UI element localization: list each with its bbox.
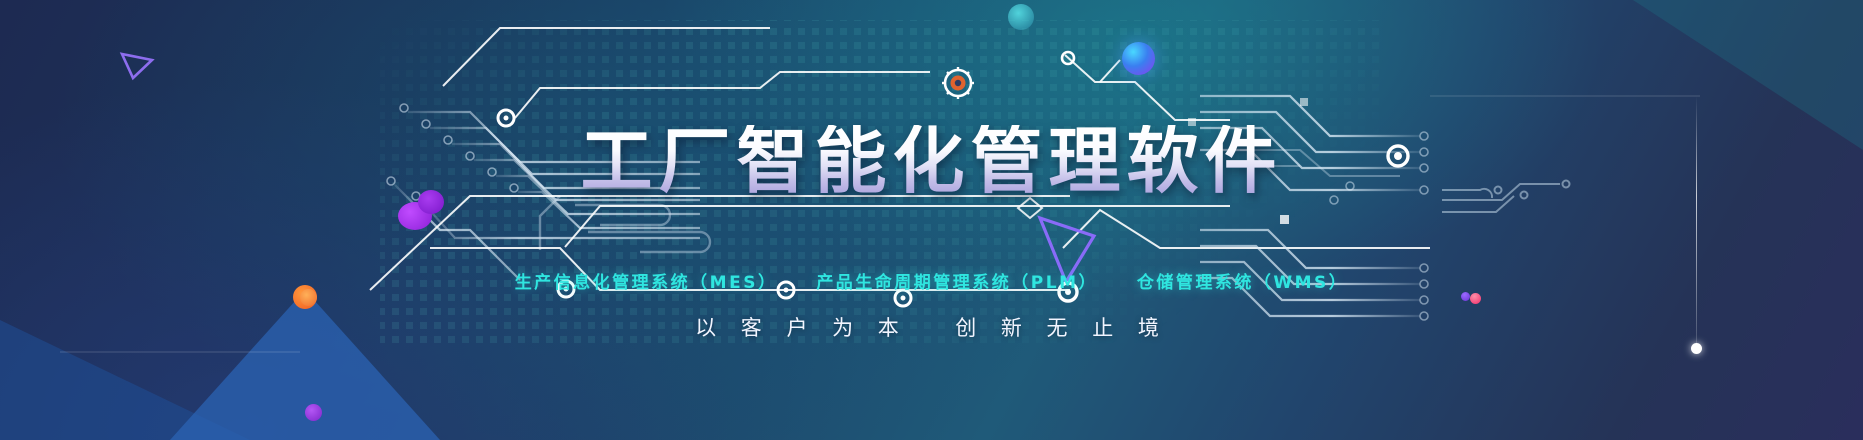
marketing-banner: 工厂智能化管理软件 生产信息化管理系统（MES） 产品生命周期管理系统（PLM）…	[0, 0, 1863, 440]
tagline-part-1: 以 客 户 为 本	[695, 316, 908, 340]
product-list: 生产信息化管理系统（MES） 产品生命周期管理系统（PLM） 仓储管理系统（WM…	[0, 268, 1863, 293]
product-item-mes: 生产信息化管理系统（MES）	[515, 273, 778, 293]
tagline-part-2: 创 新 无 止 境	[955, 316, 1168, 340]
tagline: 以 客 户 为 本 创 新 无 止 境	[0, 312, 1863, 342]
banner-content: 工厂智能化管理软件 生产信息化管理系统（MES） 产品生命周期管理系统（PLM）…	[0, 0, 1863, 440]
page-title: 工厂智能化管理软件	[0, 125, 1863, 197]
product-item-wms: 仓储管理系统（WMS）	[1137, 273, 1348, 293]
product-item-plm: 产品生命周期管理系统（PLM）	[816, 273, 1098, 293]
